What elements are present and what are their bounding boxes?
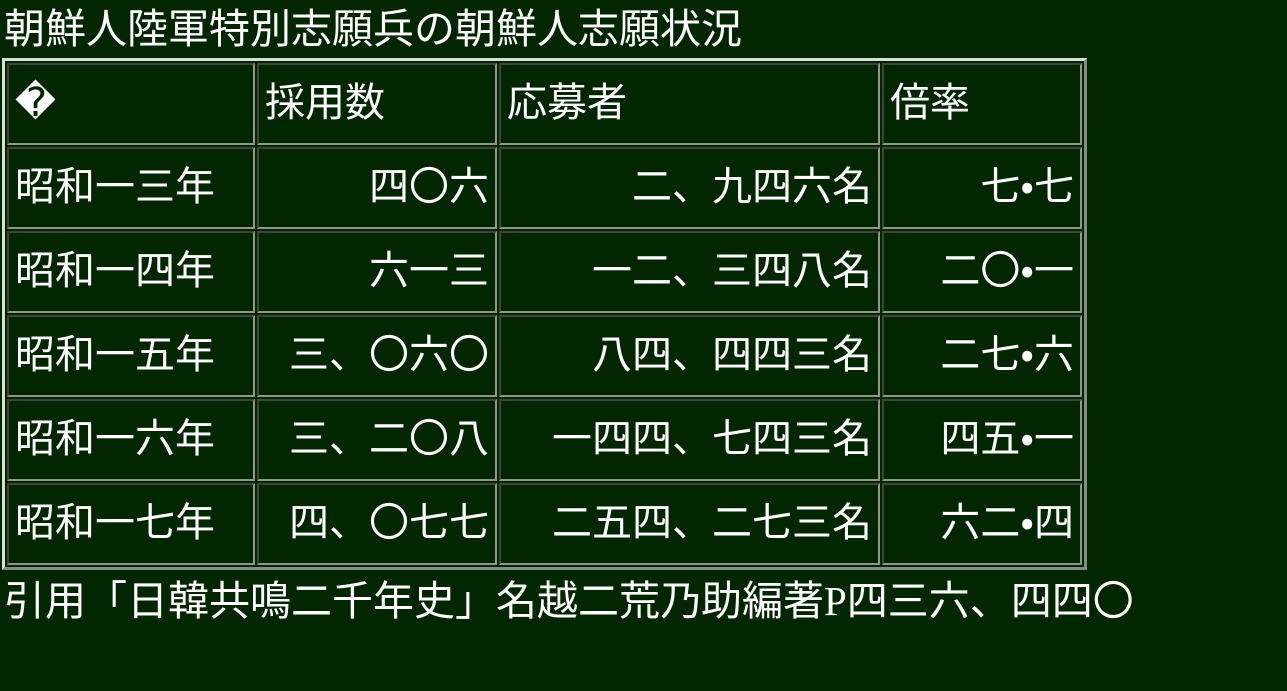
page-root: 朝鮮人陸軍特別志願兵の朝鮮人志願状況 � 採用数 応募者 倍率 昭和一三年 四〇… [0, 0, 1287, 691]
cell-year: 昭和一三年 [7, 147, 255, 229]
cell-adopted: 三、〇六〇 [257, 315, 497, 397]
source-citation: 引用「日韓共鳴二千年史」名越二荒乃助編著P四三六、四四〇 [0, 570, 1287, 630]
cell-applicants: 八四、四四三名 [499, 315, 880, 397]
table-row: 昭和一三年 四〇六 二、九四六名 七・七 [7, 147, 1082, 229]
column-header-year: � [7, 63, 255, 145]
table-row: 昭和一六年 三、二〇八 一四四、七四三名 四五・一 [7, 399, 1082, 481]
table-row: 昭和一四年 六一三 一二、三四八名 二〇・一 [7, 231, 1082, 313]
cell-applicants: 一四四、七四三名 [499, 399, 880, 481]
table-header: � 採用数 応募者 倍率 [7, 63, 1082, 145]
cell-adopted: 四〇六 [257, 147, 497, 229]
cell-applicants: 二五四、二七三名 [499, 483, 880, 565]
cell-ratio: 二七・六 [882, 315, 1082, 397]
cell-year: 昭和一六年 [7, 399, 255, 481]
table-header-row: � 採用数 応募者 倍率 [7, 63, 1082, 145]
replacement-character-icon: � [15, 83, 56, 123]
column-header-ratio: 倍率 [882, 63, 1082, 145]
cell-adopted: 四、〇七七 [257, 483, 497, 565]
cell-adopted: 六一三 [257, 231, 497, 313]
cell-year: 昭和一五年 [7, 315, 255, 397]
volunteer-statistics-table: � 採用数 応募者 倍率 昭和一三年 四〇六 二、九四六名 七・七 昭和一四年 … [2, 58, 1087, 570]
table-body: 昭和一三年 四〇六 二、九四六名 七・七 昭和一四年 六一三 一二、三四八名 二… [7, 147, 1082, 565]
column-header-adopted: 採用数 [257, 63, 497, 145]
cell-ratio: 六二・四 [882, 483, 1082, 565]
cell-ratio: 二〇・一 [882, 231, 1082, 313]
table-row: 昭和一五年 三、〇六〇 八四、四四三名 二七・六 [7, 315, 1082, 397]
column-header-applicants: 応募者 [499, 63, 880, 145]
cell-year: 昭和一四年 [7, 231, 255, 313]
table-row: 昭和一七年 四、〇七七 二五四、二七三名 六二・四 [7, 483, 1082, 565]
cell-applicants: 一二、三四八名 [499, 231, 880, 313]
page-title: 朝鮮人陸軍特別志願兵の朝鮮人志願状況 [0, 0, 1287, 58]
cell-adopted: 三、二〇八 [257, 399, 497, 481]
cell-applicants: 二、九四六名 [499, 147, 880, 229]
cell-ratio: 七・七 [882, 147, 1082, 229]
cell-year: 昭和一七年 [7, 483, 255, 565]
cell-ratio: 四五・一 [882, 399, 1082, 481]
